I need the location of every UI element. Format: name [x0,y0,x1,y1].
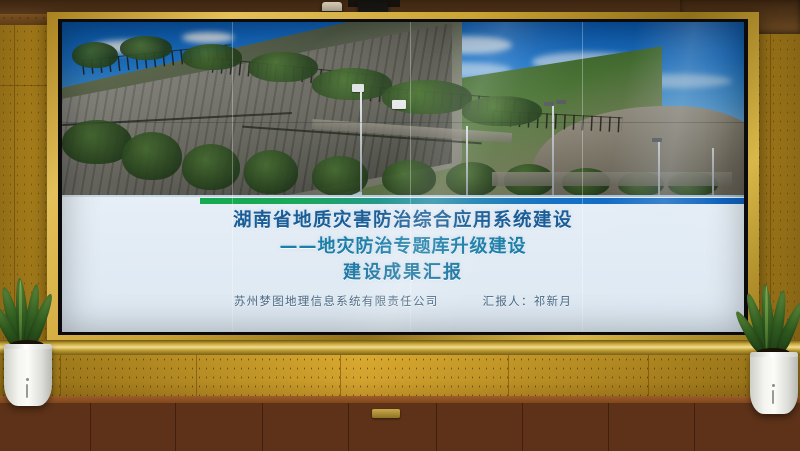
accent-bar-highlight [62,195,744,197]
presenter-name: 汇报人：祁新月 [483,294,573,308]
cloud [182,32,234,43]
floor-plank-seam [262,403,263,451]
light-pole [658,140,660,195]
lower-panel-seam [648,355,649,398]
slide-byline: 苏州梦图地理信息系统有限责任公司 汇报人：祁新月 [62,293,744,309]
lamp-head-icon [652,138,662,142]
lower-wall-panels [0,355,800,398]
video-wall-display[interactable]: 湖南省地质灾害防治综合应用系统建设 ——地灾防治专题库升级建设 建设成果汇报 苏… [62,22,744,332]
presentation-slide: 湖南省地质灾害防治综合应用系统建设 ——地灾防治专题库升级建设 建设成果汇报 苏… [62,22,744,332]
vegetation [72,42,118,68]
vegetation [446,162,498,195]
lower-panel-seam [340,355,341,398]
floor-plank-seam [522,403,523,451]
gold-trim-band [0,340,800,355]
presenter-organization: 苏州梦图地理信息系统有限责任公司 [234,294,439,308]
lower-wall-perforation [0,355,800,398]
floor-plank-seam [436,403,437,451]
accent-bar [200,198,744,204]
plant-pot-right [750,352,798,414]
light-pole [712,148,714,195]
display-panel-seam [582,22,583,332]
floor-plank-seam [694,403,695,451]
pot-marking [26,378,29,381]
plant-pot-left [4,344,52,406]
vehicle [352,84,364,92]
slide-title-line-2: ——地灾防治专题库升级建设 [62,234,744,260]
lower-panel-seam [60,355,61,398]
light-pole [552,104,554,195]
pot-rim [4,344,52,349]
lower-panel-seam [508,355,509,398]
wood-floor [0,403,800,451]
slide-title-block: 湖南省地质灾害防治综合应用系统建设 ——地灾防治专题库升级建设 建设成果汇报 [62,208,744,286]
access-road [492,172,732,186]
floor-plank-seam [175,403,176,451]
pot-marking [772,384,775,387]
conference-room-scene: 湖南省地质灾害防治综合应用系统建设 ——地灾防治专题库升级建设 建设成果汇报 苏… [0,0,800,451]
lamp-head-icon [544,102,554,106]
vegetation [244,150,298,194]
light-pole [360,92,362,192]
slide-title-line-3: 建设成果汇报 [62,260,744,286]
vehicle [392,100,406,109]
vegetation [382,160,436,195]
light-pole [466,126,468,195]
slide-photo [62,22,744,195]
display-panel-seam [232,22,233,332]
vegetation [182,44,242,70]
floor-outlet-plate [372,409,400,418]
pot-rim [750,352,798,357]
vegetation [120,36,172,60]
floor-plank-seam [348,403,349,451]
vegetation [248,52,318,82]
lower-panel-seam [196,355,197,398]
plant-leaf-highlight [765,286,768,354]
slide-title-line-1: 湖南省地质灾害防治综合应用系统建设 [62,208,744,234]
floor-plank-seam [608,403,609,451]
display-panel-seam [62,122,744,123]
display-panel-seam [410,22,411,332]
pot-marking [26,384,28,398]
floor-plank-seam [90,403,91,451]
vegetation [122,132,182,180]
plant-leaf-highlight [19,280,22,346]
pot-marking [772,390,774,404]
lamp-head-icon [556,100,566,104]
